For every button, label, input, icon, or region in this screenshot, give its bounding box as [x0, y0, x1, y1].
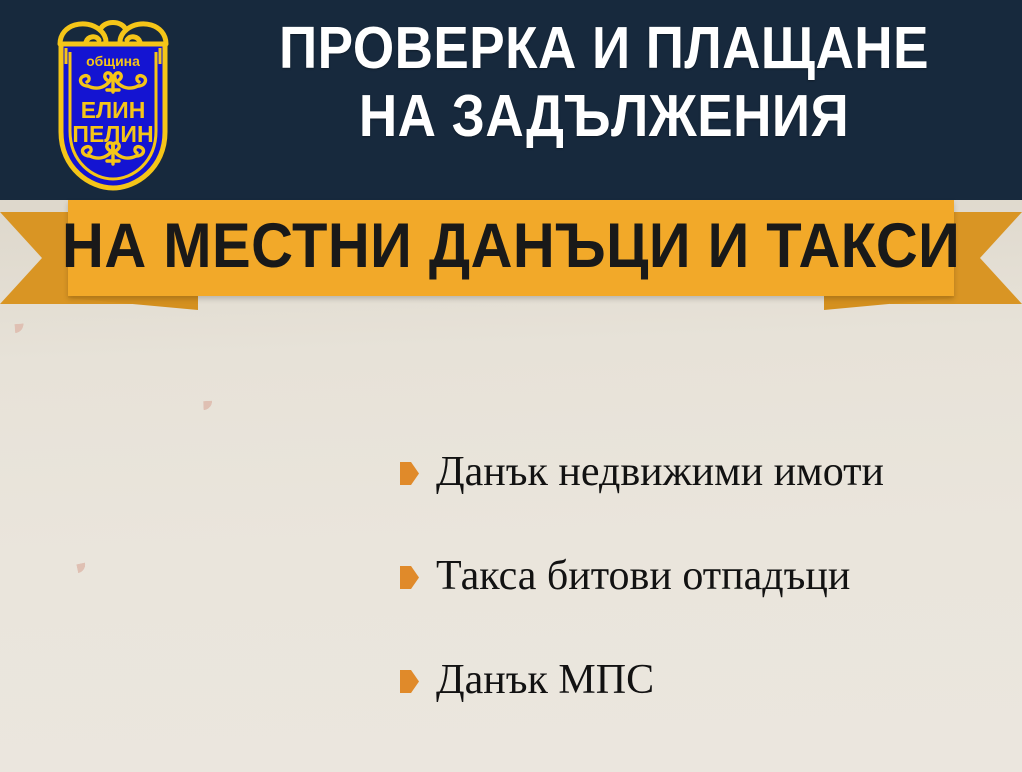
- page-title-line-1: ПРОВЕРКА И ПЛАЩАНЕ: [237, 14, 971, 82]
- logo-text-elin: ЕЛИН: [81, 97, 146, 123]
- subtitle-ribbon: НА МЕСТНИ ДАНЪЦИ И ТАКСИ: [0, 198, 1022, 310]
- stamp-card-house: [14, 308, 229, 523]
- arrow-pentagon-bullet-icon: [400, 462, 419, 485]
- page-title-line-2: НА ЗАДЪЛЖЕНИЯ: [237, 82, 971, 150]
- list-item-label: Данък МПС: [436, 659, 654, 701]
- poster-canvas: община ЕЛИН ПЕЛИН: [0, 0, 1022, 772]
- list-item[interactable]: Такса битови отпадъци: [400, 524, 1014, 628]
- tax-types-list: Данък недвижими имоти Такса битови отпад…: [400, 420, 1014, 732]
- header-bar: община ЕЛИН ПЕЛИН: [0, 0, 1022, 200]
- list-item[interactable]: Данък недвижими имоти: [400, 420, 1014, 524]
- arrow-pentagon-bullet-icon: [400, 670, 419, 693]
- municipality-logo: община ЕЛИН ПЕЛИН: [38, 4, 188, 196]
- logo-text-obshtina: община: [86, 53, 140, 69]
- ribbon-label: НА МЕСТНИ ДАНЪЦИ И ТАКСИ: [62, 215, 960, 282]
- list-item-label: Данък недвижими имоти: [436, 451, 884, 493]
- page-title: ПРОВЕРКА И ПЛАЩАНЕ НА ЗАДЪЛЖЕНИЯ: [237, 14, 971, 151]
- stamp-card-car: [76, 520, 327, 771]
- ribbon-banner: НА МЕСТНИ ДАНЪЦИ И ТАКСИ: [68, 200, 954, 296]
- list-item[interactable]: Данък МПС: [400, 628, 1014, 732]
- stamp-frame-car: [76, 520, 327, 771]
- arrow-pentagon-bullet-icon: [400, 566, 419, 589]
- stamp-frame-house: [14, 308, 229, 523]
- list-item-label: Такса битови отпадъци: [436, 555, 850, 597]
